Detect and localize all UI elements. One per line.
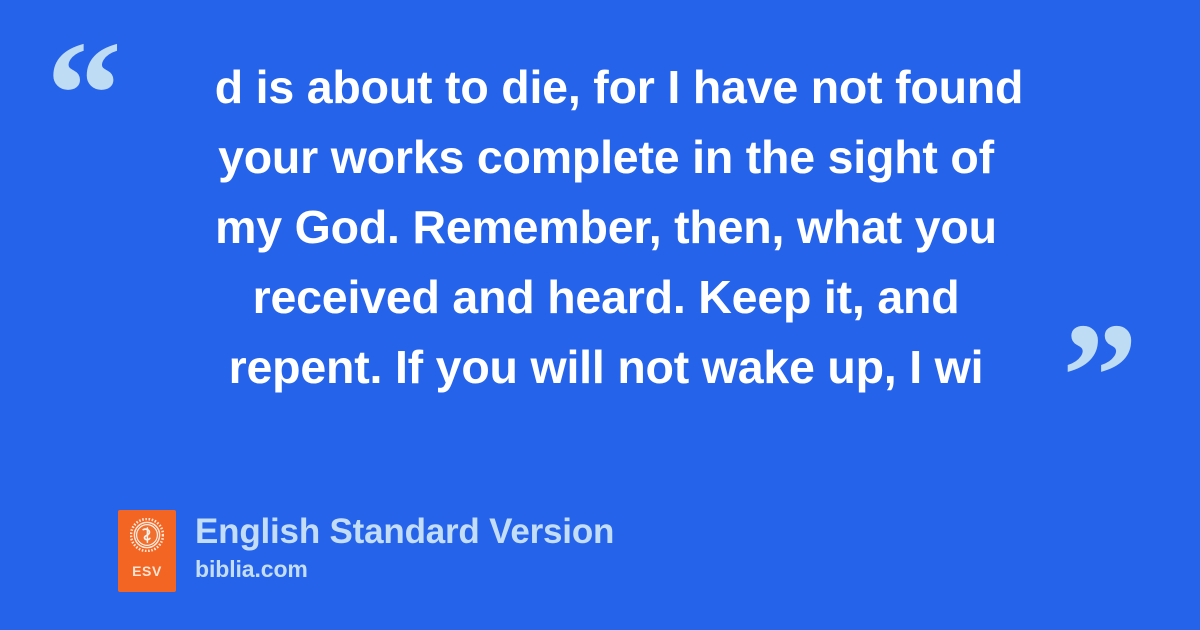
verse-line: my God. Remember, then, what you — [118, 192, 1094, 262]
open-quote-icon: “ — [46, 18, 122, 170]
verse-line: d is about to die, for I have not found — [118, 52, 1094, 122]
seal-emblem-icon — [130, 518, 164, 552]
esv-logo: ESV — [118, 510, 176, 592]
verse-line: received and heard. Keep it, and — [118, 262, 1094, 332]
branding: ESV English Standard Version biblia.com — [118, 510, 614, 592]
verse-text: d is about to die, for I have not found … — [118, 52, 1094, 402]
esv-abbreviation: ESV — [132, 564, 162, 578]
version-name: English Standard Version — [195, 512, 614, 552]
site-url: biblia.com — [195, 555, 614, 583]
branding-text: English Standard Version biblia.com — [195, 510, 614, 583]
quote-card: “ d is about to die, for I have not foun… — [0, 0, 1200, 630]
verse-line: your works complete in the sight of — [118, 122, 1094, 192]
close-quote-icon: ” — [1062, 300, 1138, 452]
verse-line: repent. If you will not wake up, I wi — [118, 332, 1094, 402]
